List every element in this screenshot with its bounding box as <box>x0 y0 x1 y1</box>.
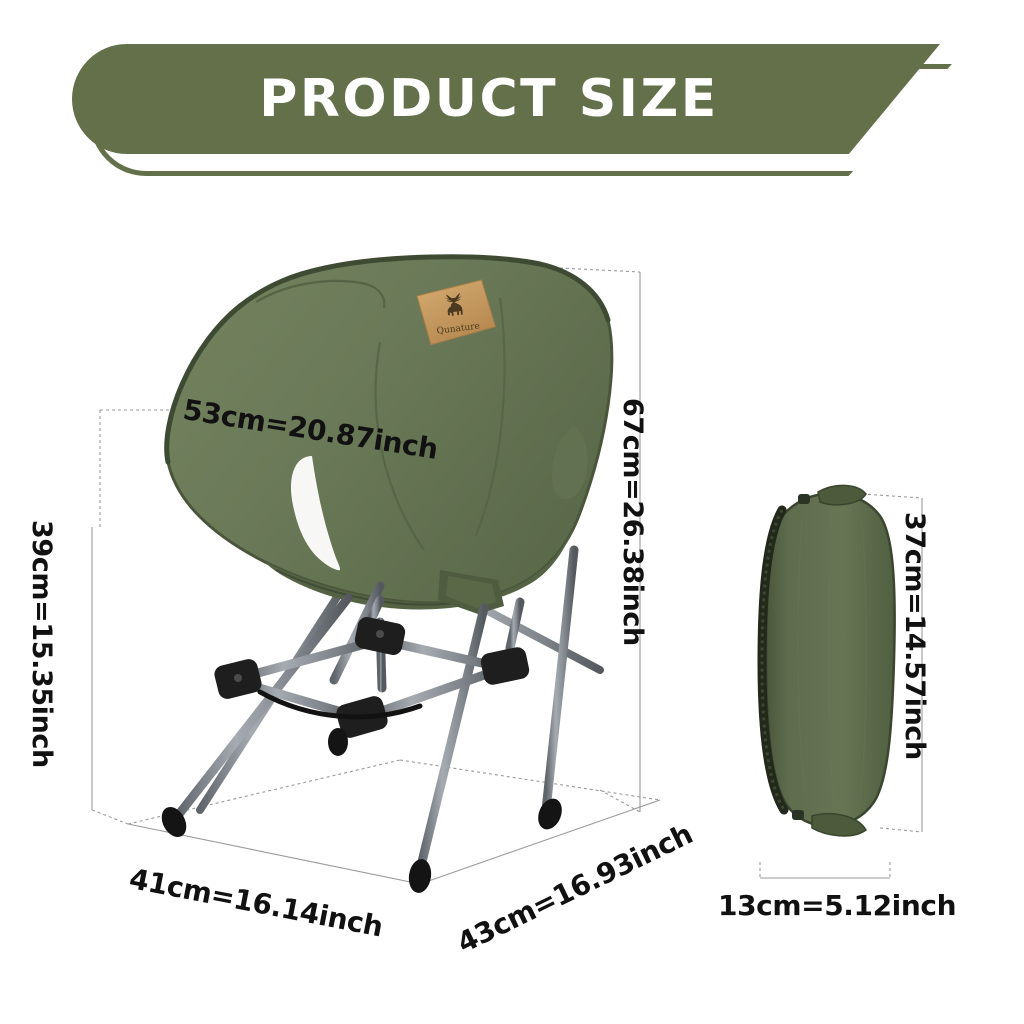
bag-zipper-slider-top <box>798 494 810 504</box>
chair-seat-height-label: 39cm=15.35inch <box>26 520 57 768</box>
bag-width-label: 13cm=5.12inch <box>718 889 956 922</box>
header-banner: PRODUCT SIZE <box>72 44 962 174</box>
chair-illustration: Qunature <box>80 250 700 900</box>
page-title: PRODUCT SIZE <box>259 73 753 125</box>
banner-body: PRODUCT SIZE <box>72 44 940 154</box>
bag-svg <box>740 480 920 860</box>
carry-bag-illustration <box>740 480 920 850</box>
bag-zipper-slider-bottom <box>792 810 804 820</box>
chair-svg: Qunature <box>80 250 700 910</box>
product-size-infographic: PRODUCT SIZE <box>0 0 1024 1024</box>
bag-length-label: 37cm=14.57inch <box>899 512 930 760</box>
chair-feet <box>157 728 566 894</box>
chair-height-label: 67cm=26.38inch <box>617 398 648 646</box>
